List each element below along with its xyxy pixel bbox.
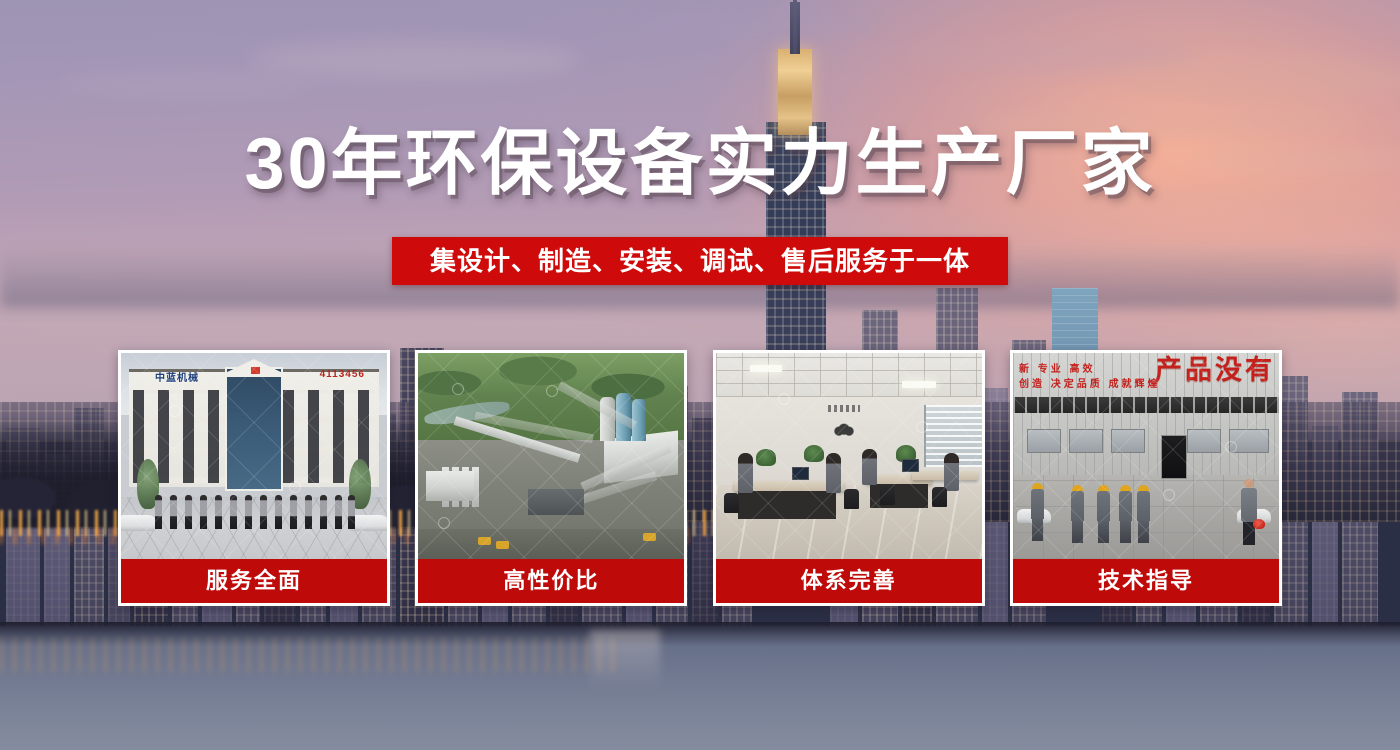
- headline-block: 30年环保设备实力生产厂家: [0, 128, 1400, 200]
- flag-icon: [251, 367, 260, 374]
- supervisor-figure: [1241, 479, 1257, 545]
- card-photo-industrial-plant: [418, 353, 684, 559]
- card-photo-office-interior: [716, 353, 982, 559]
- watermark-dot: [1163, 489, 1175, 501]
- subtitle-banner: 集设计、制造、安装、调试、售后服务于一体: [392, 237, 1008, 285]
- factory-wall-slogan-small: 新 专业 高效 创造 决定品质 成就辉煌: [1019, 363, 1161, 392]
- wall-decal: [828, 411, 860, 439]
- watermark-dot: [1225, 441, 1237, 453]
- staff-row: [155, 487, 355, 529]
- watermark-dot: [916, 421, 928, 433]
- promo-banner: 30年环保设备实力生产厂家 集设计、制造、安装、调试、售后服务于一体 中蓝机械 …: [0, 0, 1400, 750]
- photo-layer: [716, 353, 982, 559]
- building-signage-text: 中蓝机械: [155, 369, 199, 381]
- subtitle-text: 集设计、制造、安装、调试、售后服务于一体: [430, 248, 970, 274]
- card-caption-system: 体系完善: [716, 559, 982, 603]
- watermark-dot: [169, 405, 181, 417]
- tower-spire: [793, 0, 797, 54]
- feature-card-value[interactable]: 高性价比: [415, 350, 687, 606]
- feature-card-guidance[interactable]: 产品没有 新 专业 高效 创造 决定品质 成就辉煌: [1010, 350, 1282, 606]
- feature-card-system[interactable]: 体系完善: [713, 350, 985, 606]
- photo-layer: 中蓝机械 4113456: [121, 353, 387, 559]
- feature-card-list: 中蓝机械 4113456: [118, 350, 1282, 606]
- factory-door: [1161, 435, 1187, 479]
- red-helmet: [1253, 519, 1265, 529]
- card-caption-value: 高性价比: [418, 559, 684, 603]
- watermark-dot: [289, 481, 301, 493]
- page-title: 30年环保设备实力生产厂家: [244, 128, 1155, 200]
- water-light-reflections: [0, 638, 620, 672]
- card-photo-factory-workers: 产品没有 新 专业 高效 创造 决定品质 成就辉煌: [1013, 353, 1279, 559]
- feature-card-service[interactable]: 中蓝机械 4113456: [118, 350, 390, 606]
- card-caption-guidance: 技术指导: [1013, 559, 1279, 603]
- card-caption-service: 服务全面: [121, 559, 387, 603]
- watermark-dot: [778, 393, 790, 405]
- building-phone-number: 4113456: [320, 369, 365, 381]
- photo-layer: 产品没有 新 专业 高效 创造 决定品质 成就辉煌: [1013, 353, 1279, 559]
- card-photo-company-building: 中蓝机械 4113456: [121, 353, 387, 559]
- water-streak: [590, 630, 660, 690]
- factory-wall-slogan-large: 产品没有: [1155, 357, 1275, 384]
- tower-lit-crown: [778, 49, 812, 135]
